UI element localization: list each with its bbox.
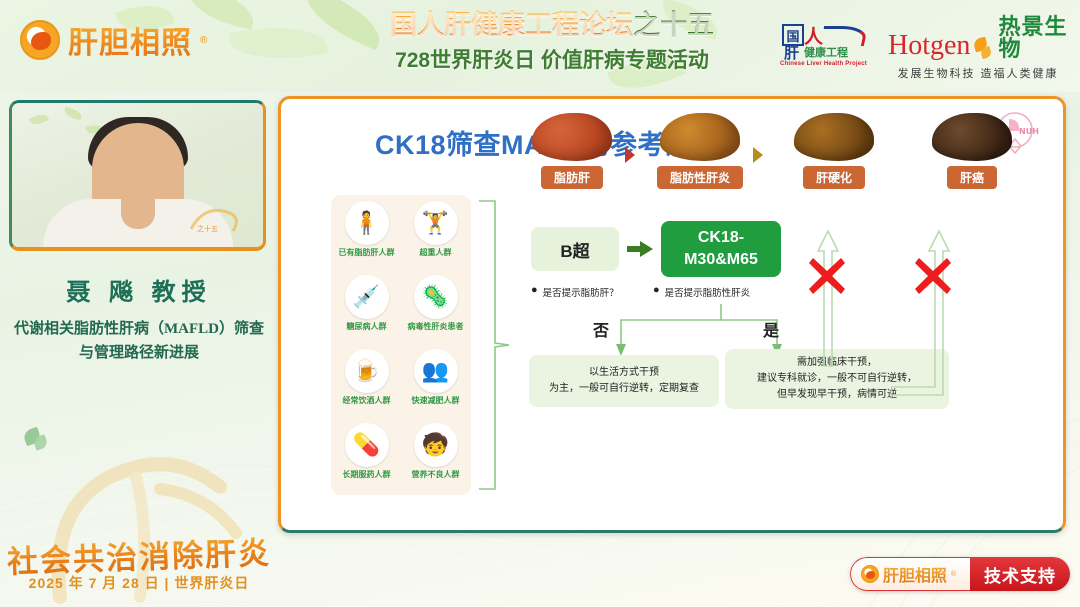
population-icon: 👥 [414,349,458,393]
ck18-question-text: 是否提示脂肪性肝炎 [665,285,751,299]
registered-mark: ® [200,35,207,46]
liver-stage: 肝癌 [917,113,1027,189]
brand-logo-gandanxiangzhao: 肝胆相照 ® [20,18,207,62]
ck18-question: ● 是否提示脂肪性肝炎 [653,285,773,299]
bchao-question: ● 是否提示脂肪肝？ [531,285,641,299]
liver-stage-label: 肝硬化 [803,166,865,189]
clhp-char-gan: 肝 [784,42,799,63]
speaker-sidebar: 之十五 聂 飚 教授 代谢相关脂肪性肝病（MAFLD）筛查与管理路径新进展 社会… [0,92,278,607]
liver-stage: 脂肪性肝炎 [645,113,755,189]
population-item[interactable]: 💉 糖尿病人群 [333,271,400,345]
logo-chinese-liver-health-project: 国 人 肝 健康工程 Chinese Liver Health Project [778,22,874,72]
outcome-no-text: 以生活方式干预为主，一般可自行逆转，定期复查 [549,365,699,397]
branch-label-no: 否 [593,317,609,341]
branch-label-yes: 是 [763,317,779,341]
bchao-question-text: 是否提示脂肪肝？ [543,285,619,299]
hotgen-wordmark: Hotgen [888,32,970,60]
population-icon: 💉 [345,275,389,319]
population-item[interactable]: 🦠 病毒性肝炎患者 [402,271,469,345]
video-background: 之十五 [12,103,263,247]
liver-stage: 脂肪肝 [517,113,627,189]
liver-image [794,113,874,161]
clhp-en-text: Chinese Liver Health Project [780,61,867,67]
step-bchao-label: B超 [560,237,589,262]
badge-brand-name: 肝胆相照 [883,562,947,586]
liver-stage-label: 脂肪性肝炎 [657,166,743,189]
population-item[interactable]: 🏋 超重人群 [402,197,469,271]
ck18-line2: M30&M65 [684,251,758,268]
bullet-icon: ● [653,285,660,299]
hotgen-slogan: 发展生物科技 造福人类健康 [888,65,1068,81]
population-label: 营养不良人群 [404,470,468,479]
progression-arrow-icon [753,147,763,163]
outcome-no-line1: 以生活方式干预 [589,367,659,378]
svg-text:之十五: 之十五 [197,224,218,233]
population-icon: 🏋 [414,201,458,245]
population-label: 长期服药人群 [335,470,399,479]
presentation-slide[interactable]: CK18筛查MASH的参考流程 NUH 🧍 已有脂肪肝人群 🏋 超重人群 💉 糖… [278,96,1066,533]
population-item[interactable]: 👥 快速减肥人群 [402,345,469,419]
hotgen-cn-name: 热景生物 [998,16,1068,60]
population-item[interactable]: 🍺 经常饮酒人群 [333,345,400,419]
brand-name: 肝胆相照 [68,18,192,62]
liver-progression-row: 脂肪肝 脂肪性肝炎 肝硬化 肝癌 [517,113,1057,209]
liver-logo-icon [861,565,879,583]
reverse-arrow-2-icon [891,227,987,399]
tech-support-badge[interactable]: 肝胆相照 ® 技术支持 [850,557,1070,591]
event-title-suffix: 之十五 [633,10,714,40]
outcome-box-no: 以生活方式干预为主，一般可自行逆转，定期复查 [529,355,719,407]
population-label: 病毒性肝炎患者 [404,322,468,331]
grouping-bracket-icon [477,199,511,491]
broadcast-screen: 肝胆相照 ® 国人肝健康工程论坛之十五 728世界肝炎日 价值肝病专题活动 国 … [0,0,1080,607]
ck18-line1: CK18- [698,229,744,246]
event-title-prefix: 国人肝健康工程论坛 [390,10,633,40]
progression-arrow-icon [625,147,635,163]
liver-image [932,113,1012,161]
outcome-no-line2: 为主，一般可自行逆转，定期复查 [549,383,699,394]
event-header: 肝胆相照 ® 国人肝健康工程论坛之十五 728世界肝炎日 价值肝病专题活动 国 … [0,0,1080,92]
population-label: 已有脂肪肝人群 [335,248,399,257]
leaf-decor-icon [29,112,49,128]
red-x-2-icon [911,254,955,298]
leaf-decor-icon [63,107,83,120]
liver-stage-label: 肝癌 [947,166,997,189]
event-title-block: 国人肝健康工程论坛之十五 728世界肝炎日 价值肝病专题活动 [352,10,752,74]
population-label: 经常饮酒人群 [335,396,399,405]
population-icon: 🧒 [414,423,458,467]
event-main-title: 国人肝健康工程论坛之十五 [352,10,752,42]
population-icon: 🦠 [414,275,458,319]
clhp-swoosh-icon [820,26,868,46]
population-item[interactable]: 💊 长期服药人群 [333,419,400,493]
step-ck18-label: CK18-M30&M65 [684,227,758,270]
right-arrow-icon [627,241,653,257]
badge-support-label: 技术支持 [970,557,1070,591]
population-item[interactable]: 🧍 已有脂肪肝人群 [333,197,400,271]
population-label: 糖尿病人群 [335,322,399,331]
registered-mark: ® [951,571,956,578]
logo-hotgen: Hotgen 热景生物 发展生物科技 造福人类健康 [888,16,1068,81]
butterfly-icon [974,38,994,60]
population-label: 快速减肥人群 [404,396,468,405]
population-icon: 💊 [345,423,389,467]
bullet-icon: ● [531,285,538,299]
speaker-name: 聂 飚 教授 [0,272,278,307]
clhp-cn-text: 健康工程 [804,44,848,60]
liver-stage: 肝硬化 [779,113,889,189]
outcome-yes-line3: 但早发现早干预，病情可逆 [777,389,897,400]
event-sub-title: 728世界肝炎日 价值肝病专题活动 [352,44,752,74]
page-footer: 肝胆相照 ® 技术支持 [0,533,1080,607]
speaker-video-tile[interactable]: 之十五 [9,100,266,251]
at-risk-population-grid: 🧍 已有脂肪肝人群 🏋 超重人群 💉 糖尿病人群 🦠 病毒性肝炎患者 🍺 经常饮… [333,197,469,493]
population-icon: 🧍 [345,201,389,245]
liver-image [532,113,612,161]
badge-brand-section: 肝胆相照 ® [850,557,970,591]
video-watermark: 之十五 [185,205,257,239]
step-bchao-box[interactable]: B超 [531,227,619,271]
step-ck18-box[interactable]: CK18-M30&M65 [661,221,781,277]
speaker-topic: 代谢相关脂肪性肝病（MAFLD）筛查与管理路径新进展 [14,317,264,365]
population-label: 超重人群 [404,248,468,257]
population-item[interactable]: 🧒 营养不良人群 [402,419,469,493]
red-x-1-icon [805,254,849,298]
liver-image [660,113,740,161]
liver-logo-icon [20,20,60,60]
population-icon: 🍺 [345,349,389,393]
liver-stage-label: 脂肪肝 [541,166,603,189]
